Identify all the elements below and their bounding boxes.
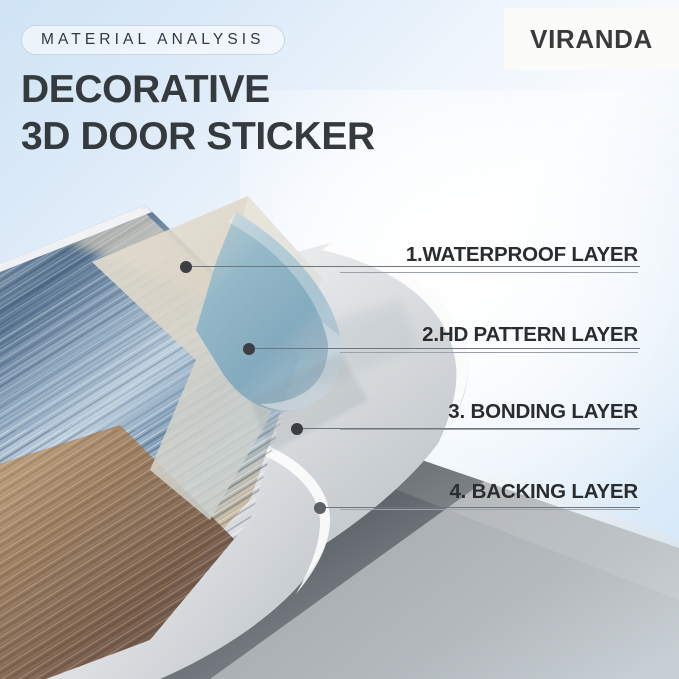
callout-dot-3 — [291, 423, 303, 435]
callout-dot-1 — [180, 261, 192, 273]
backing-layer-shape — [120, 402, 679, 679]
callout-rule-2 — [340, 352, 638, 353]
callout-rule-4 — [340, 509, 638, 510]
badge-label: MATERIAL ANALYSIS — [41, 31, 265, 49]
leader-line-4 — [324, 507, 640, 508]
headline-line-2: 3D DOOR STICKER — [21, 113, 461, 160]
material-analysis-badge: MATERIAL ANALYSIS — [21, 25, 285, 55]
leader-line-1 — [190, 266, 640, 267]
poster-canvas: MATERIAL ANALYSIS DECORATIVE 3D DOOR STI… — [0, 0, 679, 679]
page-title: DECORATIVE 3D DOOR STICKER — [21, 66, 461, 160]
hd-pattern-layer-shape — [196, 212, 342, 411]
backing-paper-shape — [0, 429, 330, 679]
callout-bonding-layer: 3. BONDING LAYER — [338, 400, 638, 430]
callout-label-4: 4. BACKING LAYER — [338, 480, 638, 509]
callout-rule-1 — [340, 272, 638, 273]
callout-label-1: 1.WATERPROOF LAYER — [338, 243, 638, 272]
leader-line-2 — [253, 348, 640, 349]
callout-dot-4 — [314, 502, 326, 514]
leader-line-3 — [301, 428, 640, 429]
brand-name: VIRANDA — [530, 24, 653, 55]
callout-rule-3 — [340, 429, 638, 430]
callout-waterproof-layer: 1.WATERPROOF LAYER — [338, 243, 638, 273]
bonding-layer-shape — [0, 243, 468, 679]
headline-line-1: DECORATIVE — [21, 66, 461, 113]
brand-logo: VIRANDA — [504, 8, 679, 70]
printed-photo-layer — [0, 180, 340, 679]
callout-dot-2 — [243, 343, 255, 355]
waterproof-layer-shape — [92, 196, 322, 520]
callout-backing-layer: 4. BACKING LAYER — [338, 480, 638, 510]
callout-label-3: 3. BONDING LAYER — [338, 400, 638, 429]
